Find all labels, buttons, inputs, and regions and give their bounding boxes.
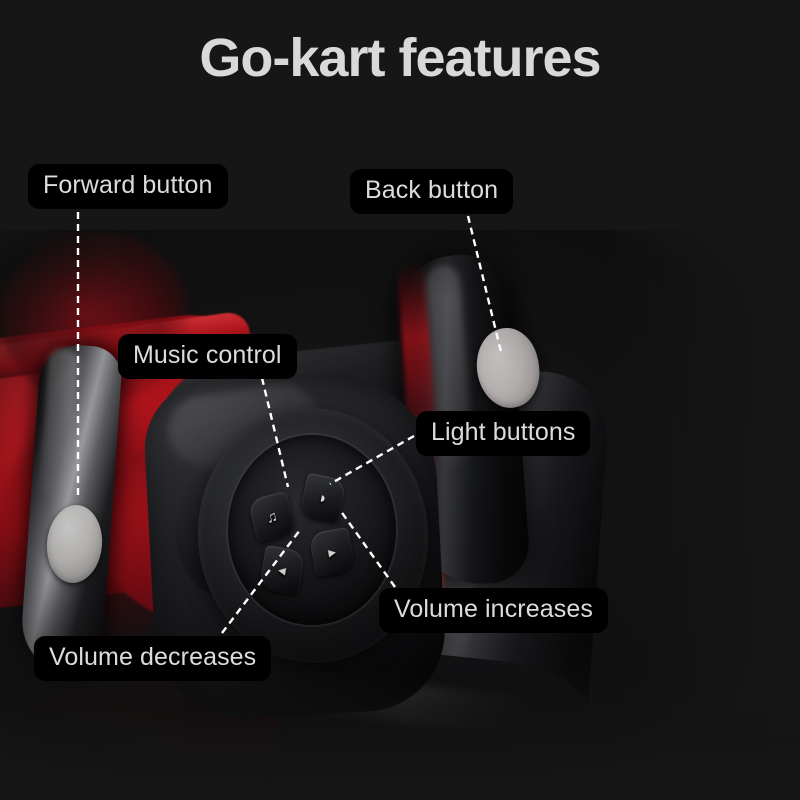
label-back-button: Back button (350, 169, 513, 214)
volume-up-icon: ▸ (327, 544, 337, 560)
label-volume-increases: Volume increases (379, 588, 608, 633)
screenshot-canvas: ♫ ◗ ◂ ▸ Go-kart features Forward button … (0, 0, 800, 800)
label-forward-button: Forward button (28, 164, 228, 209)
music-note-icon: ♫ (265, 508, 280, 525)
label-volume-decreases: Volume decreases (34, 636, 271, 681)
hub-control-ring-inner (228, 435, 396, 625)
page-title: Go-kart features (0, 30, 800, 87)
volume-down-icon: ◂ (277, 562, 287, 578)
label-music-control: Music control (118, 334, 297, 379)
headlight-icon: ◗ (317, 490, 329, 507)
photo-right-fade (610, 230, 800, 800)
go-kart-steering-wheel-photo: ♫ ◗ ◂ ▸ (0, 230, 800, 800)
label-light-buttons: Light buttons (416, 411, 590, 456)
